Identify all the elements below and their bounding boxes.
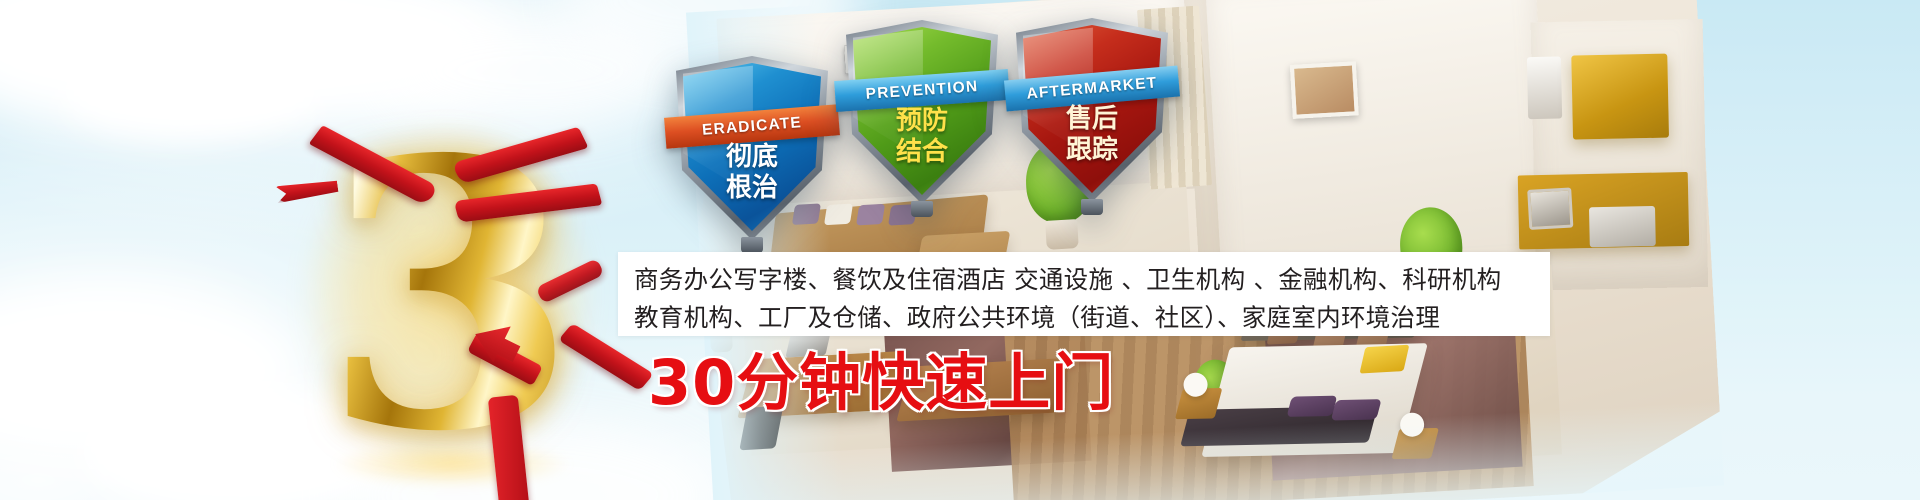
cloud-shape [380, 10, 680, 130]
shield-chinese-line2: 跟踪 [1016, 135, 1168, 166]
shield-english-label: PREVENTION [865, 78, 979, 104]
shield-badge-prevention: PREVENTION 预防 结合 [846, 20, 998, 204]
headline-text: 30分钟快速上门 [648, 352, 1114, 414]
shield-badge-eradicate: ERADICATE 彻底 根治 [676, 56, 828, 240]
service-scope-panel: 商务办公写字楼、餐饮及住宿酒店 交通设施 、卫生机构 、金融机构、科研机构 教育… [618, 252, 1550, 336]
shield-chinese-line1: 彻底 [676, 142, 828, 173]
bed [1201, 343, 1428, 457]
cloud-shape [60, 40, 320, 140]
shield-chinese-line1: 预防 [846, 106, 998, 137]
shield-english-label: ERADICATE [701, 114, 802, 140]
shield-stand [911, 201, 933, 217]
table-lamp [1183, 372, 1208, 397]
cloud-shape [0, 0, 350, 130]
cushion [824, 204, 853, 226]
red-ribbon-tail [275, 178, 339, 203]
red-ribbon-segment [309, 125, 440, 206]
interior-floorplan-render [686, 0, 1724, 500]
red-ribbon-segment [454, 183, 603, 222]
table-lamp [1399, 412, 1424, 437]
shield-english-label: AFTERMARKET [1026, 74, 1158, 103]
bed-throw [1359, 345, 1409, 374]
pillow [1331, 399, 1382, 420]
kitchen-cabinet [1571, 54, 1669, 140]
red-arrow-icon [468, 314, 527, 370]
shield-chinese-line2: 结合 [846, 137, 998, 168]
shield-chinese-label: 售后 跟踪 [1016, 104, 1168, 166]
shield-stand [741, 237, 763, 253]
cloud-shape [340, 420, 720, 500]
shield-badge-aftermarket: AFTERMARKET 售后 跟踪 [1016, 18, 1168, 202]
cloud-shape [0, 280, 310, 460]
gold-glow [298, 120, 598, 470]
wall-painting [1290, 61, 1359, 119]
shield-chinese-label: 预防 结合 [846, 106, 998, 168]
pillow [1287, 396, 1338, 417]
service-scope-line-2: 教育机构、工厂及仓储、政府公共环境（街道、社区）、家庭室内环境治理 [634, 299, 1550, 337]
bed-headboard [1180, 406, 1378, 446]
red-ribbon-segment [451, 127, 588, 184]
golden-number-three: 3 [258, 96, 638, 496]
nightstand [1391, 428, 1439, 459]
nightstand [1175, 388, 1223, 419]
cloud-shape [150, 0, 510, 120]
potted-plant [1192, 358, 1240, 434]
service-scope-line-1: 商务办公写字楼、餐饮及住宿酒店 交通设施 、卫生机构 、金融机构、科研机构 [634, 261, 1550, 299]
scene-edge-fade [686, 0, 1724, 500]
oven [1527, 187, 1573, 229]
cushion [856, 204, 885, 226]
red-ribbon-segment [535, 258, 604, 304]
shield-stand [1081, 199, 1103, 215]
wall-kitchen [1531, 19, 1709, 291]
promotional-banner: 3 ERADICATE 彻底 根治 PREVENTION [0, 0, 1920, 500]
floor-marble-bedroom [1265, 317, 1523, 481]
shield-chinese-line1: 售后 [1016, 104, 1168, 135]
shield-chinese-label: 彻底 根治 [676, 142, 828, 204]
range-hood [1527, 56, 1562, 119]
kitchen-counter [1518, 172, 1690, 250]
gold-sparkle [332, 448, 572, 488]
red-ribbon-tail [488, 395, 530, 500]
red-ribbon-segment [467, 332, 543, 386]
number-three-glyph: 3 [258, 96, 638, 496]
kitchen-sink [1589, 206, 1656, 247]
shield-chinese-line2: 根治 [676, 173, 828, 204]
floor-plate [686, 0, 1724, 500]
cloud-shape [80, 380, 410, 500]
